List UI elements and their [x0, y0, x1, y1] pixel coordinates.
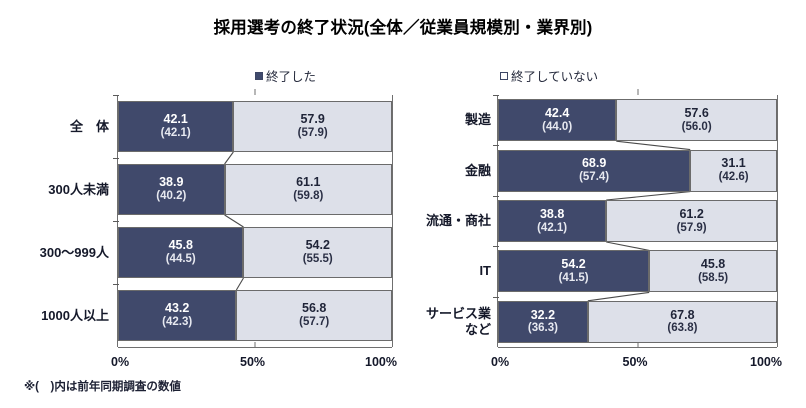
bar-value-finished: 38.9 — [159, 175, 183, 190]
row-gap-tick — [493, 145, 499, 146]
bar-value-unfinished-prev: (63.8) — [667, 322, 697, 336]
x-axis-tick-50-right — [637, 342, 638, 348]
bar-value-unfinished: 31.1 — [721, 156, 745, 171]
bar-segment-unfinished: 54.2(55.5) — [243, 227, 392, 278]
row-label: 300人未満 — [1, 182, 109, 198]
bar-value-finished: 43.2 — [165, 301, 189, 316]
bar-segment-finished: 68.9(57.4) — [498, 150, 690, 192]
bar-row: 43.2(42.3)56.8(57.7) — [118, 290, 392, 341]
row-label: サービス業 など — [391, 306, 491, 338]
x-axis-label-0: 0% — [491, 355, 509, 369]
row-label: 流通・商社 — [391, 213, 491, 229]
row-gap-tick — [113, 158, 119, 159]
row-label: 300〜999人 — [1, 245, 109, 261]
bar-value-unfinished-prev: (59.8) — [293, 190, 323, 204]
x-axis-label-50: 50% — [623, 355, 648, 369]
bar-value-unfinished-prev: (58.5) — [698, 272, 728, 286]
bar-value-unfinished: 57.9 — [300, 112, 324, 127]
bar-segment-finished: 38.9(40.2) — [118, 164, 225, 215]
bar-row: 42.1(42.1)57.9(57.9) — [118, 101, 392, 152]
bar-value-finished: 45.8 — [169, 238, 193, 253]
bar-segment-unfinished: 45.8(58.5) — [649, 250, 777, 292]
bar-row: 42.4(44.0)57.6(56.0) — [498, 99, 777, 141]
row-gap-tick — [113, 284, 119, 285]
bar-segment-unfinished: 57.6(56.0) — [616, 99, 777, 141]
bar-row: 45.8(44.5)54.2(55.5) — [118, 227, 392, 278]
bar-segment-finished: 43.2(42.3) — [118, 290, 236, 341]
row-gap-tick — [493, 196, 499, 197]
footnote: ※( )内は前年同期調査の数値 — [24, 378, 181, 394]
bar-row: 32.2(36.3)67.8(63.8) — [498, 301, 777, 343]
bar-row: 54.2(41.5)45.8(58.5) — [498, 250, 777, 292]
x-axis-tick-top-50-right — [637, 89, 638, 95]
plot-area-left: 42.1(42.1)57.9(57.9)38.9(40.2)61.1(59.8)… — [117, 95, 393, 347]
bar-value-finished-prev: (36.3) — [528, 322, 558, 336]
bar-segment-unfinished: 61.1(59.8) — [225, 164, 392, 215]
bar-value-unfinished-prev: (55.5) — [303, 253, 333, 267]
bar-value-finished: 68.9 — [582, 156, 606, 171]
bar-value-unfinished: 61.1 — [296, 175, 320, 190]
bar-value-finished: 42.1 — [164, 112, 188, 127]
row-label: 全 体 — [1, 119, 109, 135]
bar-segment-unfinished: 67.8(63.8) — [588, 301, 777, 343]
bar-value-finished: 32.2 — [531, 308, 555, 323]
bar-segment-finished: 54.2(41.5) — [498, 250, 649, 292]
plot-area-right: 42.4(44.0)57.6(56.0)68.9(57.4)31.1(42.6)… — [497, 95, 778, 347]
bar-value-finished-prev: (41.5) — [559, 272, 589, 286]
bar-segment-finished: 38.8(42.1) — [498, 200, 606, 242]
x-axis-label-100: 100% — [365, 355, 397, 369]
bar-segment-unfinished: 31.1(42.6) — [690, 150, 777, 192]
row-label: 金融 — [391, 163, 491, 179]
row-label: IT — [391, 263, 491, 279]
bar-row: 38.8(42.1)61.2(57.9) — [498, 200, 777, 242]
bar-segment-finished: 32.2(36.3) — [498, 301, 588, 343]
bar-value-unfinished-prev: (57.9) — [298, 127, 328, 141]
row-label: 1000人以上 — [1, 308, 109, 324]
bar-value-unfinished-prev: (57.7) — [299, 316, 329, 330]
row-gap-tick — [493, 246, 499, 247]
x-axis-label-50: 50% — [240, 355, 265, 369]
bar-value-unfinished: 54.2 — [306, 238, 330, 253]
bar-segment-unfinished: 56.8(57.7) — [236, 290, 392, 341]
bar-value-unfinished: 61.2 — [679, 207, 703, 222]
row-gap-tick — [113, 221, 119, 222]
x-axis-tick-top-50-left — [255, 89, 256, 95]
bar-segment-finished: 42.1(42.1) — [118, 101, 233, 152]
bar-row: 68.9(57.4)31.1(42.6) — [498, 150, 777, 192]
bar-value-finished-prev: (42.1) — [537, 222, 567, 236]
bar-value-finished-prev: (44.5) — [166, 253, 196, 267]
bar-value-unfinished-prev: (57.9) — [677, 222, 707, 236]
bar-row: 38.9(40.2)61.1(59.8) — [118, 164, 392, 215]
chart-panel-industry: 42.4(44.0)57.6(56.0)68.9(57.4)31.1(42.6)… — [400, 0, 806, 408]
bar-value-finished: 54.2 — [561, 257, 585, 272]
bar-value-unfinished-prev: (56.0) — [682, 121, 712, 135]
bar-value-unfinished: 67.8 — [670, 308, 694, 323]
bar-value-unfinished-prev: (42.6) — [719, 171, 749, 185]
bar-value-finished-prev: (42.3) — [162, 316, 192, 330]
bar-value-unfinished: 57.6 — [684, 106, 708, 121]
chart-page: 採用選考の終了状況(全体／従業員規模別・業界別) 終了した 終了していない 42… — [0, 0, 806, 408]
row-label: 製造 — [391, 112, 491, 128]
bar-value-finished-prev: (44.0) — [542, 121, 572, 135]
bar-value-finished-prev: (42.1) — [161, 127, 191, 141]
bar-segment-unfinished: 61.2(57.9) — [606, 200, 777, 242]
bar-value-unfinished: 45.8 — [701, 257, 725, 272]
bar-segment-finished: 42.4(44.0) — [498, 99, 616, 141]
chart-panel-company-size: 42.1(42.1)57.9(57.9)38.9(40.2)61.1(59.8)… — [0, 0, 420, 408]
row-gap-tick — [113, 95, 119, 96]
x-axis-tick-50-left — [255, 342, 256, 348]
bar-value-finished-prev: (40.2) — [156, 190, 186, 204]
bar-value-unfinished: 56.8 — [302, 301, 326, 316]
bar-value-finished-prev: (57.4) — [579, 171, 609, 185]
bar-value-finished: 42.4 — [545, 106, 569, 121]
x-axis-label-0: 0% — [111, 355, 129, 369]
row-gap-tick — [493, 95, 499, 96]
x-axis-label-100: 100% — [750, 355, 782, 369]
bar-segment-unfinished: 57.9(57.9) — [233, 101, 392, 152]
bar-value-finished: 38.8 — [540, 207, 564, 222]
bar-segment-finished: 45.8(44.5) — [118, 227, 243, 278]
row-gap-tick — [493, 297, 499, 298]
